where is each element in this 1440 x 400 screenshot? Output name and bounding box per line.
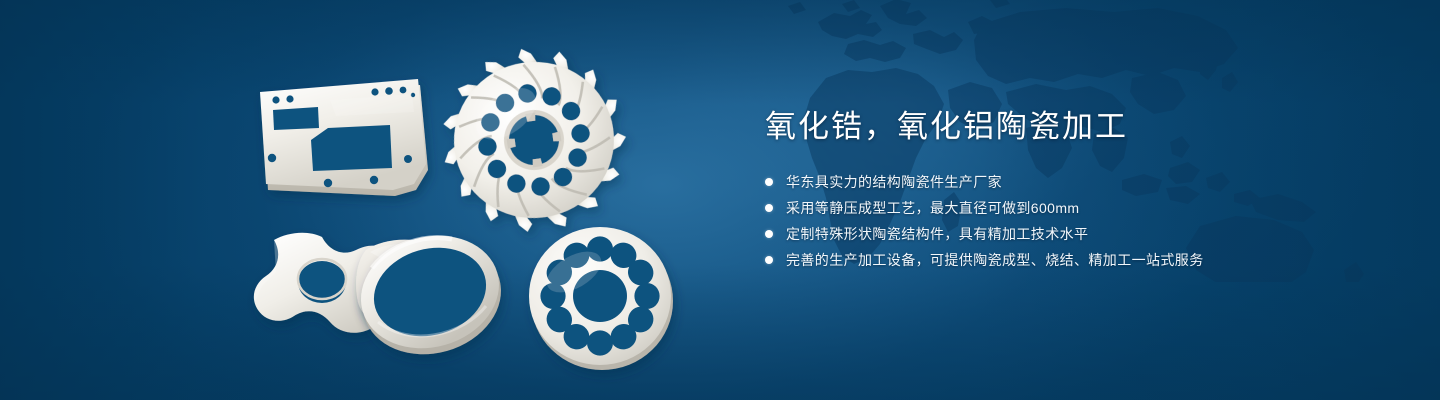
list-item-label: 定制特殊形状陶瓷结构件，具有精加工技术水平 [786, 223, 1088, 245]
list-item-label: 华东具实力的结构陶瓷件生产厂家 [786, 171, 1002, 193]
bullet-dot-icon [765, 256, 773, 264]
bullet-dot-icon [765, 230, 773, 238]
list-item: 完善的生产加工设备，可提供陶瓷成型、烧结、精加工一站式服务 [765, 249, 1365, 271]
list-item: 定制特殊形状陶瓷结构件，具有精加工技术水平 [765, 223, 1365, 245]
list-item-label: 完善的生产加工设备，可提供陶瓷成型、烧结、精加工一站式服务 [786, 249, 1204, 271]
list-item: 采用等静压成型工艺，最大直径可做到600mm [765, 197, 1365, 219]
hero-banner: 氧化锆，氧化铝陶瓷加工 华东具实力的结构陶瓷件生产厂家 采用等静压成型工艺，最大… [0, 0, 1440, 400]
feature-list: 华东具实力的结构陶瓷件生产厂家 采用等静压成型工艺，最大直径可做到600mm 定… [765, 171, 1365, 271]
banner-text-column: 氧化锆，氧化铝陶瓷加工 华东具实力的结构陶瓷件生产厂家 采用等静压成型工艺，最大… [765, 108, 1365, 275]
bullet-dot-icon [765, 204, 773, 212]
page-title: 氧化锆，氧化铝陶瓷加工 [765, 108, 1365, 147]
list-item: 华东具实力的结构陶瓷件生产厂家 [765, 171, 1365, 193]
list-item-label: 采用等静压成型工艺，最大直径可做到600mm [786, 197, 1079, 219]
bullet-dot-icon [765, 178, 773, 186]
